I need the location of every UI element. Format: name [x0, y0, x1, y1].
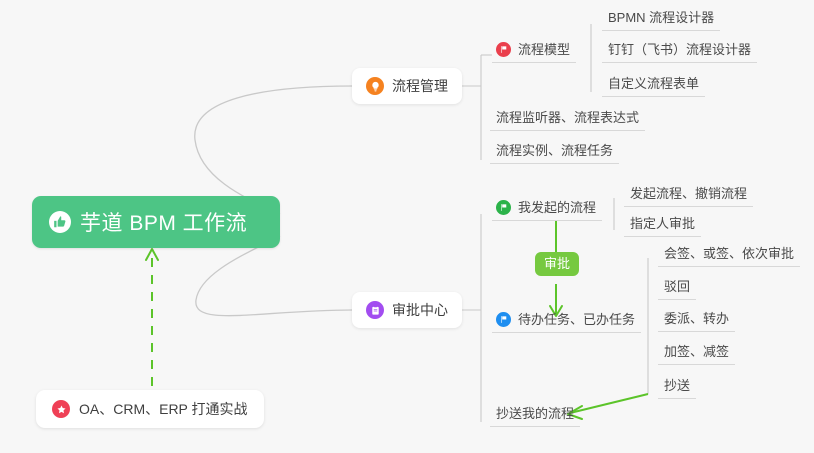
leaf-bpmn-designer[interactable]: BPMN 流程设计器: [602, 10, 720, 31]
leaf-reject-label: 驳回: [664, 279, 690, 294]
leaf-my-initiated-label: 我发起的流程: [518, 200, 596, 215]
thumbs-up-icon: [49, 211, 71, 233]
callout-label: OA、CRM、ERP 打通实战: [79, 399, 248, 419]
leaf-process-model[interactable]: 流程模型: [492, 42, 576, 63]
leaf-assigned-approval[interactable]: 指定人审批: [624, 216, 701, 237]
leaf-my-initiated[interactable]: 我发起的流程: [492, 200, 602, 221]
leaf-custom-form[interactable]: 自定义流程表单: [602, 76, 705, 97]
leaf-countersign[interactable]: 会签、或签、依次审批: [658, 246, 800, 267]
mindmap-canvas: 芋道 BPM 工作流 流程管理 流程模型 BPMN 流程设计器 钉钉（飞书）流程…: [0, 0, 814, 453]
leaf-dingtalk-designer-label: 钉钉（飞书）流程设计器: [608, 42, 751, 57]
flag-icon: [496, 200, 511, 215]
leaf-cc-label: 抄送: [664, 378, 690, 393]
leaf-countersign-label: 会签、或签、依次审批: [664, 246, 794, 261]
leaf-add-remove-sign-label: 加签、减签: [664, 344, 729, 359]
leaf-bpmn-designer-label: BPMN 流程设计器: [608, 10, 714, 25]
leaf-delegate-transfer-label: 委派、转办: [664, 311, 729, 326]
link-root-to-process-management: [195, 86, 352, 214]
callout-oa-crm-erp[interactable]: OA、CRM、ERP 打通实战: [36, 390, 264, 428]
leaf-dingtalk-designer[interactable]: 钉钉（飞书）流程设计器: [602, 42, 757, 63]
leaf-process-listener[interactable]: 流程监听器、流程表达式: [490, 110, 645, 131]
root-node-label: 芋道 BPM 工作流: [80, 207, 247, 237]
star-icon: [52, 400, 70, 418]
leaf-cc[interactable]: 抄送: [658, 378, 696, 399]
approval-badge: 审批: [535, 252, 579, 276]
leaf-start-cancel-process[interactable]: 发起流程、撤销流程: [624, 186, 753, 207]
leaf-cc-my-process[interactable]: 抄送我的流程: [490, 406, 580, 427]
flag-icon: [496, 312, 511, 327]
leaf-process-instance-label: 流程实例、流程任务: [496, 143, 613, 158]
branch-process-management-label: 流程管理: [392, 76, 448, 96]
leaf-process-instance[interactable]: 流程实例、流程任务: [490, 143, 619, 164]
leaf-custom-form-label: 自定义流程表单: [608, 76, 699, 91]
branch-approval-center[interactable]: 审批中心: [352, 292, 462, 328]
arrow-cc-to-cc-my-process: [570, 394, 648, 413]
leaf-assigned-approval-label: 指定人审批: [630, 216, 695, 231]
arrowhead-callout-to-root: [146, 249, 158, 260]
leaf-reject[interactable]: 驳回: [658, 279, 696, 300]
leaf-cc-my-process-label: 抄送我的流程: [496, 406, 574, 421]
branch-approval-center-label: 审批中心: [392, 300, 448, 320]
branch-process-management[interactable]: 流程管理: [352, 68, 462, 104]
root-node[interactable]: 芋道 BPM 工作流: [32, 196, 280, 248]
lightbulb-icon: [366, 77, 384, 95]
clipboard-icon: [366, 301, 384, 319]
leaf-todo-done-tasks[interactable]: 待办任务、已办任务: [492, 312, 641, 333]
leaf-start-cancel-process-label: 发起流程、撤销流程: [630, 186, 747, 201]
leaf-delegate-transfer[interactable]: 委派、转办: [658, 311, 735, 332]
leaf-add-remove-sign[interactable]: 加签、减签: [658, 344, 735, 365]
leaf-process-model-label: 流程模型: [518, 42, 570, 57]
leaf-process-listener-label: 流程监听器、流程表达式: [496, 110, 639, 125]
flag-icon: [496, 42, 511, 57]
leaf-todo-done-tasks-label: 待办任务、已办任务: [518, 312, 635, 327]
